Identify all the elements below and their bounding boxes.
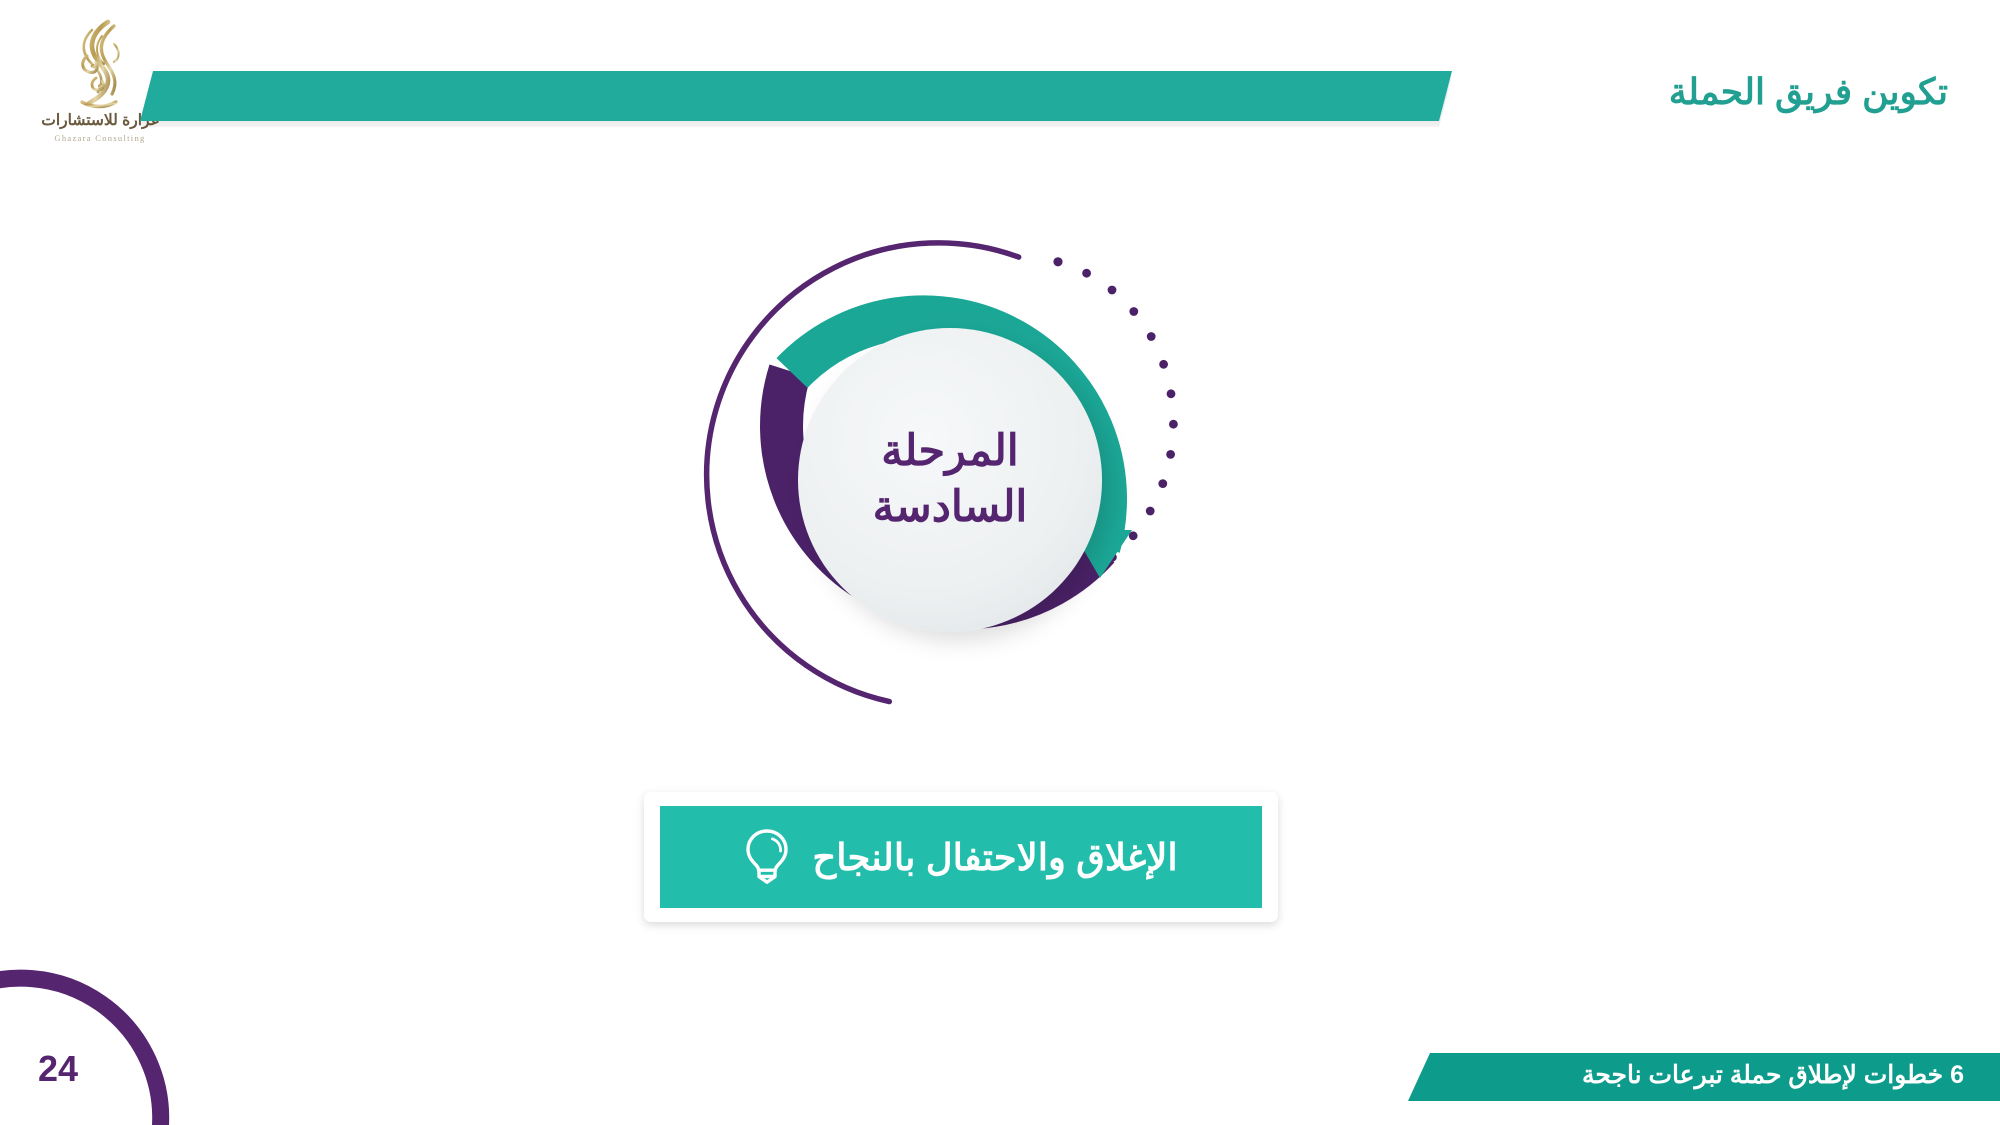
stage-banner: الإغلاق والاحتفال بالنجاح [660,806,1262,908]
lightbulb-icon [744,828,790,886]
footer-title: 6 خطوات لإطلاق حملة تبرعات ناجحة [1582,1059,1964,1093]
logo-name-english: Ghazara Consulting [30,133,170,143]
page-number-arc-icon [0,962,200,1125]
page-title: تكوين فريق الحملة [1669,68,1948,117]
stage-banner-label: الإغلاق والاحتفال بالنجاح [812,839,1177,876]
stage-wheel-diagram: المرحلة السادسة [700,230,1200,730]
slide-canvas: غزارة للاستشارات Ghazara Consulting تكوي… [0,0,2000,1125]
stage-banner-card[interactable]: الإغلاق والاحتفال بالنجاح [644,792,1278,922]
page-number: 24 [38,1051,78,1087]
header-accent-bar [140,71,1452,121]
stage-inner-circle [798,328,1102,632]
